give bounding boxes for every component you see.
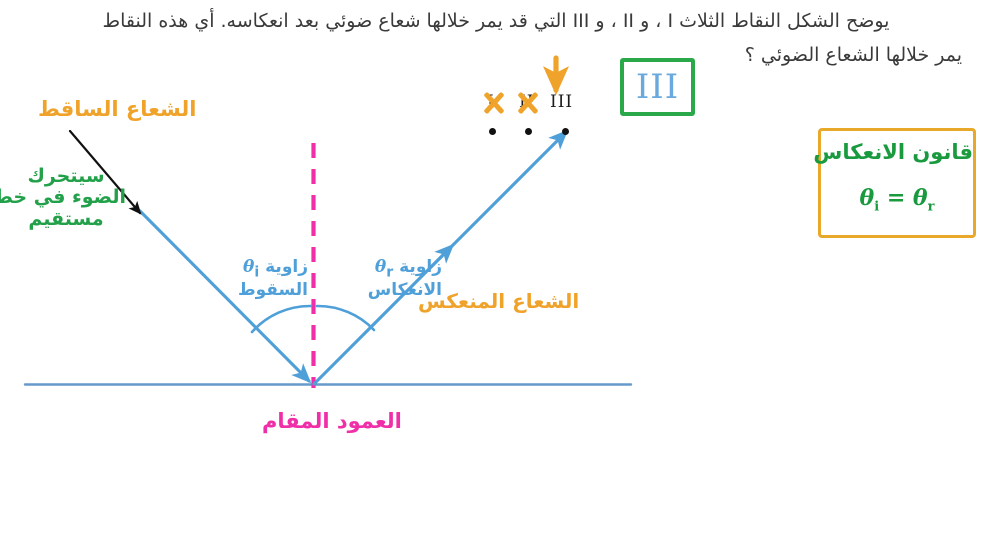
- straight-line-note-row-3: مستقيم: [6, 209, 126, 230]
- straight-line-note: سيتحرك الضوء في خط مستقيم: [6, 166, 126, 230]
- angle-of-incidence-label: زاوية θi السقوط: [186, 258, 308, 300]
- question-line-2: يمر خلالها الشعاع الضوئي ؟: [12, 38, 980, 72]
- answer-roman-numeral: III: [624, 67, 691, 107]
- point-label-iii: III: [550, 92, 573, 112]
- cross-out-point-ii: [515, 90, 541, 116]
- angle-of-incidence-word: زاوية: [265, 257, 308, 277]
- angle-of-incidence-subscript: i: [254, 264, 259, 280]
- question-line-1: يوضح الشكل النقاط الثلاث I ، و II ، و II…: [12, 4, 980, 38]
- point-dot-iii: [562, 128, 569, 135]
- diagram-canvas: يوضح الشكل النقاط الثلاث I ، و II ، و II…: [0, 0, 992, 558]
- equals-sign: =: [879, 185, 913, 211]
- straight-line-note-row-2: الضوء في خط: [6, 187, 126, 208]
- question-text: يوضح الشكل النقاط الثلاث I ، و II ، و II…: [0, 4, 992, 72]
- incident-ray-label: الشعاع الساقط: [38, 98, 196, 122]
- law-formula: θi = θr: [821, 185, 973, 214]
- angle-of-incidence-row-1: زاوية θi: [186, 258, 308, 281]
- reflected-ray-label: الشعاع المنعكس: [418, 290, 579, 312]
- theta-i-symbol: θ: [860, 185, 875, 211]
- straight-line-note-row-1: سيتحرك: [6, 166, 126, 187]
- point-dot-ii: [525, 128, 532, 135]
- law-title: قانون الانعكاس: [821, 141, 973, 165]
- angle-of-incidence-arc: [252, 306, 311, 332]
- angle-of-reflection-arc: [317, 306, 374, 330]
- angle-of-reflection-row-2: الانعكاس: [322, 281, 442, 300]
- angle-of-reflection-row-1: زاوية θr: [322, 258, 442, 281]
- angle-of-incidence-symbol: θ: [243, 257, 254, 277]
- diagram-vector-layer: [0, 0, 992, 558]
- angle-of-reflection-symbol: θ: [375, 257, 386, 277]
- answer-box: III: [620, 58, 695, 116]
- angle-of-reflection-word: زاوية: [399, 257, 442, 277]
- angle-of-reflection-subscript: r: [386, 264, 393, 280]
- law-of-reflection-box: قانون الانعكاس θi = θr: [818, 128, 976, 238]
- point-dot-i: [489, 128, 496, 135]
- cross-out-point-i: [481, 90, 507, 116]
- theta-r-subscript: r: [928, 199, 935, 214]
- normal-label: العمود المقام: [262, 410, 402, 434]
- theta-r-symbol: θ: [913, 185, 928, 211]
- angle-of-reflection-label: زاوية θr الانعكاس: [322, 258, 442, 300]
- angle-of-incidence-row-2: السقوط: [186, 281, 308, 300]
